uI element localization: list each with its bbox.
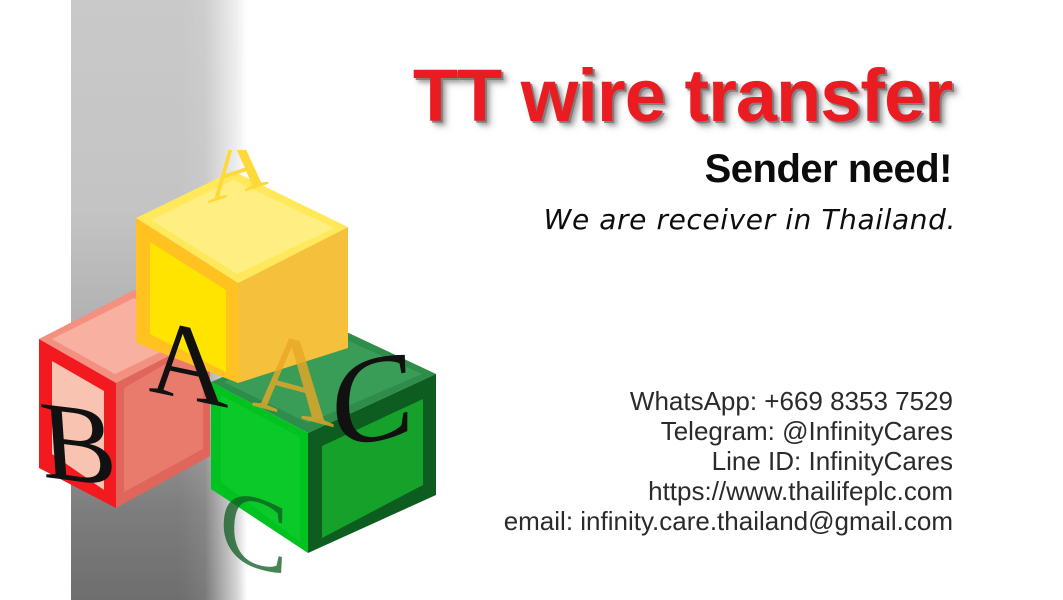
subheadline: Sender need!	[0, 147, 952, 192]
contact-line-email[interactable]: email: infinity.care.thailand@gmail.com	[0, 506, 953, 536]
contact-line-website[interactable]: https://www.thailifeplc.com	[0, 476, 953, 506]
contact-line-lineid: Line ID: InfinityCares	[0, 446, 953, 476]
contact-details: WhatsApp: +669 8353 7529 Telegram: @Infi…	[0, 386, 953, 536]
business-card: B C C A	[0, 0, 1063, 600]
headline-title: TT wire transfer	[0, 58, 952, 133]
contact-line-whatsapp: WhatsApp: +669 8353 7529	[0, 386, 953, 416]
contact-line-telegram: Telegram: @InfinityCares	[0, 416, 953, 446]
tagline: We are receiver in Thailand.	[0, 203, 956, 236]
